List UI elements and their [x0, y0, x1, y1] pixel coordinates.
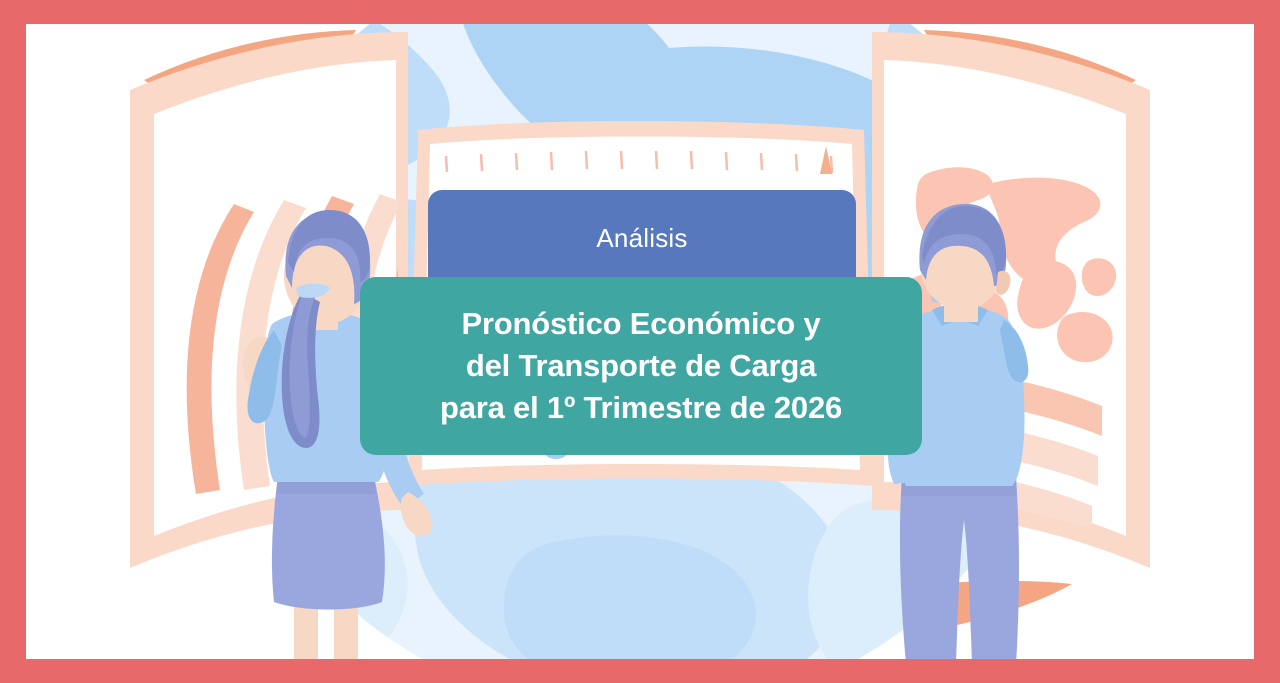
- title-line-2: del Transporte de Carga: [440, 345, 842, 387]
- title-line-3: para el 1º Trimestre de 2026: [440, 387, 842, 429]
- kicker-label: Análisis: [596, 224, 687, 253]
- title-card: Pronóstico Económico y del Transporte de…: [360, 277, 922, 455]
- page-title: Pronóstico Económico y del Transporte de…: [422, 303, 860, 429]
- banner-stage: Análisis Pronóstico Económico y del Tran…: [26, 24, 1254, 659]
- banner-frame: Análisis Pronóstico Económico y del Tran…: [0, 0, 1280, 683]
- title-line-1: Pronóstico Económico y: [440, 303, 842, 345]
